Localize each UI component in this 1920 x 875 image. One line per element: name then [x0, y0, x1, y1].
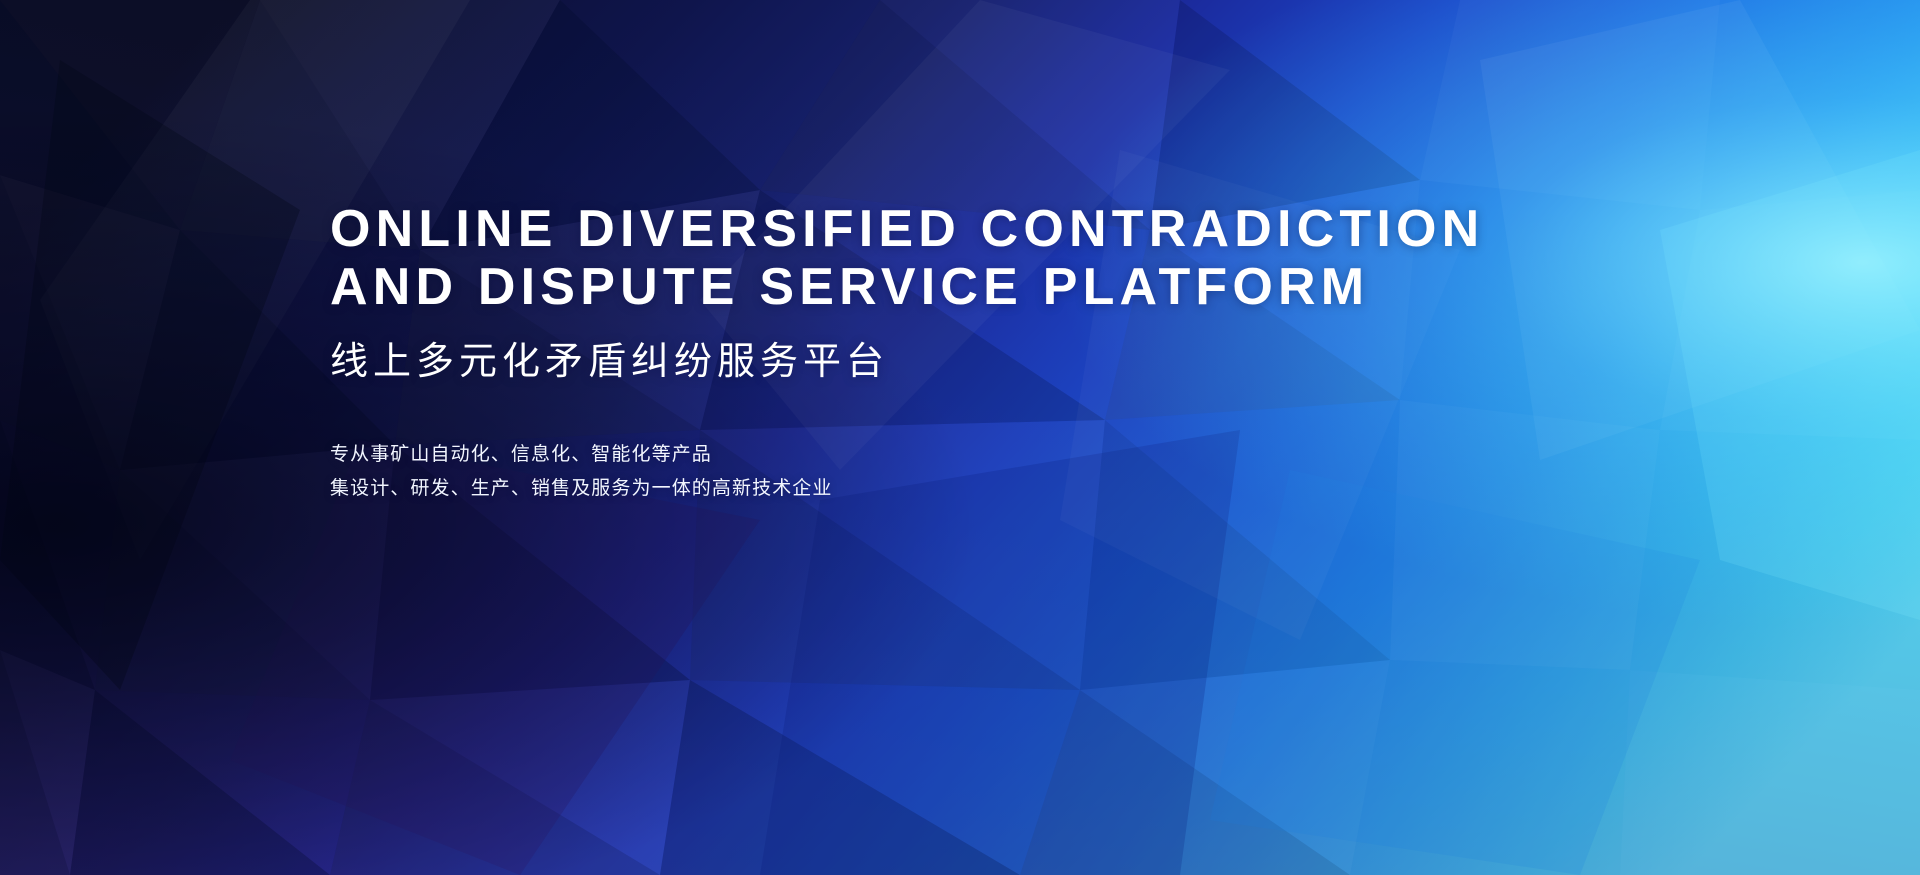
description-line-2: 集设计、研发、生产、销售及服务为一体的高新技术企业	[330, 472, 1530, 506]
description-line-1: 专从事矿山自动化、信息化、智能化等产品	[330, 438, 1530, 472]
hero-text-block: ONLINE DIVERSIFIED CONTRADICTION AND DIS…	[330, 200, 1530, 506]
hero-banner: ONLINE DIVERSIFIED CONTRADICTION AND DIS…	[0, 0, 1920, 875]
subtitle-chinese: 线上多元化矛盾纠纷服务平台	[330, 340, 1530, 386]
headline-line-2: AND DISPUTE SERVICE PLATFORM	[330, 258, 1530, 316]
description-block: 专从事矿山自动化、信息化、智能化等产品 集设计、研发、生产、销售及服务为一体的高…	[330, 438, 1530, 506]
headline-line-1: ONLINE DIVERSIFIED CONTRADICTION	[330, 200, 1530, 258]
